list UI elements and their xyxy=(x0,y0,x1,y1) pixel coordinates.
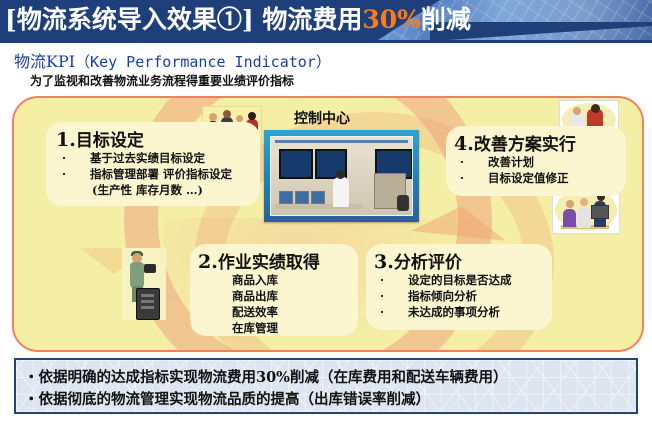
step-3-label: 分析评价 xyxy=(394,253,462,273)
step-2-bullet-3: 配送效率 xyxy=(232,304,278,320)
page-title: [物流系统导入效果①] 物流费用30%削减 xyxy=(5,2,471,38)
desk-monitor xyxy=(591,205,609,219)
page-title-suffix: 削减 xyxy=(421,5,471,34)
bullet-dot-icon xyxy=(380,273,394,287)
step-3-bullet-3-text: 未达成的事项分析 xyxy=(408,305,500,319)
step-4-bullet-1: 改善计划 xyxy=(460,154,534,170)
step-box-1: 1.目标设定 基于过去实绩目标设定 指标管理部署 评价指标设定 (生产性 库存月… xyxy=(46,122,260,206)
step-box-2: 2.作业实绩取得 商品入库 商品出库 配送效率 在库管理 xyxy=(190,244,358,336)
kpi-heading: 物流KPI（Key Performance Indicator） xyxy=(14,48,331,72)
step-2-bullet-2: 商品出库 xyxy=(232,288,278,304)
step-box-4: 4.改善方案实行 改善计划 目标设定值修正 xyxy=(446,126,626,196)
step-2-label: 作业实绩取得 xyxy=(218,253,320,273)
worker-body xyxy=(130,262,144,288)
person-right-head xyxy=(591,104,600,113)
step-2-number: 2. xyxy=(198,251,218,273)
console-monitor-1 xyxy=(279,191,293,204)
bullet-dot-icon xyxy=(380,289,394,303)
console-desk xyxy=(275,204,363,209)
step-4-number: 4. xyxy=(454,133,474,155)
step-4-bullet-2: 目标设定值修正 xyxy=(460,170,569,186)
control-room-photo-inner xyxy=(270,136,413,216)
meeting-head-1 xyxy=(209,113,217,121)
photo-topbar xyxy=(275,140,408,143)
meeting-head-2 xyxy=(223,110,231,118)
step-1-bullet-2-text: 指标管理部署 评价指标设定 xyxy=(90,167,232,181)
bullet-dot-icon xyxy=(62,167,76,181)
bullet-dot-icon xyxy=(460,171,474,185)
step-1-bullet-3-text: (生产性 库存月数 …) xyxy=(92,183,203,197)
control-room-photo xyxy=(264,130,419,222)
summary-line-1: ・依据明确的达成指标实现物流费用30%削减（在库费用和配送车辆费用） xyxy=(24,366,507,387)
step-4-bullet-2-text: 目标设定值修正 xyxy=(488,171,569,185)
seated-head-1 xyxy=(566,200,574,208)
step-3-bullet-3: 未达成的事项分析 xyxy=(380,304,500,320)
step-2-title: 2.作业实绩取得 xyxy=(198,248,320,273)
operator-figure xyxy=(333,177,349,207)
step-1-bullet-3: (生产性 库存月数 …) xyxy=(92,182,203,198)
header-underline xyxy=(0,40,652,43)
meeting-head-4 xyxy=(248,112,256,120)
step-1-bullet-1-text: 基于过去实绩目标设定 xyxy=(90,151,205,165)
step-1-label: 目标设定 xyxy=(76,131,144,151)
office-chair xyxy=(397,195,409,211)
step-2-bullet-4: 在库管理 xyxy=(232,320,278,336)
step-2-bullet-1: 商品入库 xyxy=(232,272,278,288)
step-4-label: 改善方案实行 xyxy=(474,135,576,155)
step-3-title: 3.分析评价 xyxy=(374,248,462,273)
step-1-bullet-1: 基于过去实绩目标设定 xyxy=(62,150,205,166)
person-left-head xyxy=(573,107,581,115)
step-box-3: 3.分析评价 设定的目标是否达成 指标倾向分析 未达成的事项分析 xyxy=(366,244,552,330)
step-3-bullet-1-text: 设定的目标是否达成 xyxy=(408,273,512,287)
step-3-bullet-1: 设定的目标是否达成 xyxy=(380,272,512,288)
warehouse-worker-photo xyxy=(122,248,166,320)
meeting-head-3 xyxy=(236,115,243,122)
summary-line-2: ・依据彻底的物流管理实现物流品质的提高（出库错误率削减） xyxy=(24,388,430,409)
bullet-dot-icon xyxy=(62,151,76,165)
summary-box: ・依据明确的达成指标实现物流费用30%削减（在库费用和配送车辆费用） ・依据彻底… xyxy=(14,358,638,414)
kpi-subtitle: 为了监视和改善物流业务流程得重要业绩评价指标 xyxy=(30,72,294,89)
console-monitor-2 xyxy=(295,191,309,204)
step-1-number: 1. xyxy=(56,129,76,151)
bullet-dot-icon xyxy=(460,155,474,169)
page-title-percent: 30% xyxy=(362,5,421,34)
wall-map-1 xyxy=(279,149,313,179)
step-1-title: 1.目标设定 xyxy=(56,126,144,151)
seated-person-1 xyxy=(563,209,576,227)
page-title-prefix: [物流系统导入效果①] 物流费用 xyxy=(5,5,362,34)
kpi-heading-en: （Key Performance Indicator） xyxy=(75,53,331,71)
pdca-cycle-panel: 控制中心 xyxy=(12,96,644,352)
step-1-bullet-2: 指标管理部署 评价指标设定 xyxy=(62,166,232,182)
step-3-number: 3. xyxy=(374,251,394,273)
kpi-heading-cn: 物流KPI xyxy=(14,52,75,71)
barcode-scanner-icon xyxy=(144,264,156,273)
step-3-bullet-2-text: 指标倾向分析 xyxy=(408,289,477,303)
server-cabinet xyxy=(136,288,160,320)
console-monitor-3 xyxy=(311,191,325,204)
step-4-title: 4.改善方案实行 xyxy=(454,130,576,155)
slide-header: [物流系统导入效果①] 物流费用30%削减 xyxy=(0,0,652,40)
bullet-dot-icon xyxy=(380,305,394,319)
seated-person-2 xyxy=(577,208,591,228)
seated-head-2 xyxy=(580,198,588,206)
step-4-bullet-1-text: 改善计划 xyxy=(488,155,534,169)
step-3-bullet-2: 指标倾向分析 xyxy=(380,288,477,304)
control-center-label: 控制中心 xyxy=(294,108,350,128)
slide: [物流系统导入效果①] 物流费用30%削减 物流KPI（Key Performa… xyxy=(0,0,652,424)
